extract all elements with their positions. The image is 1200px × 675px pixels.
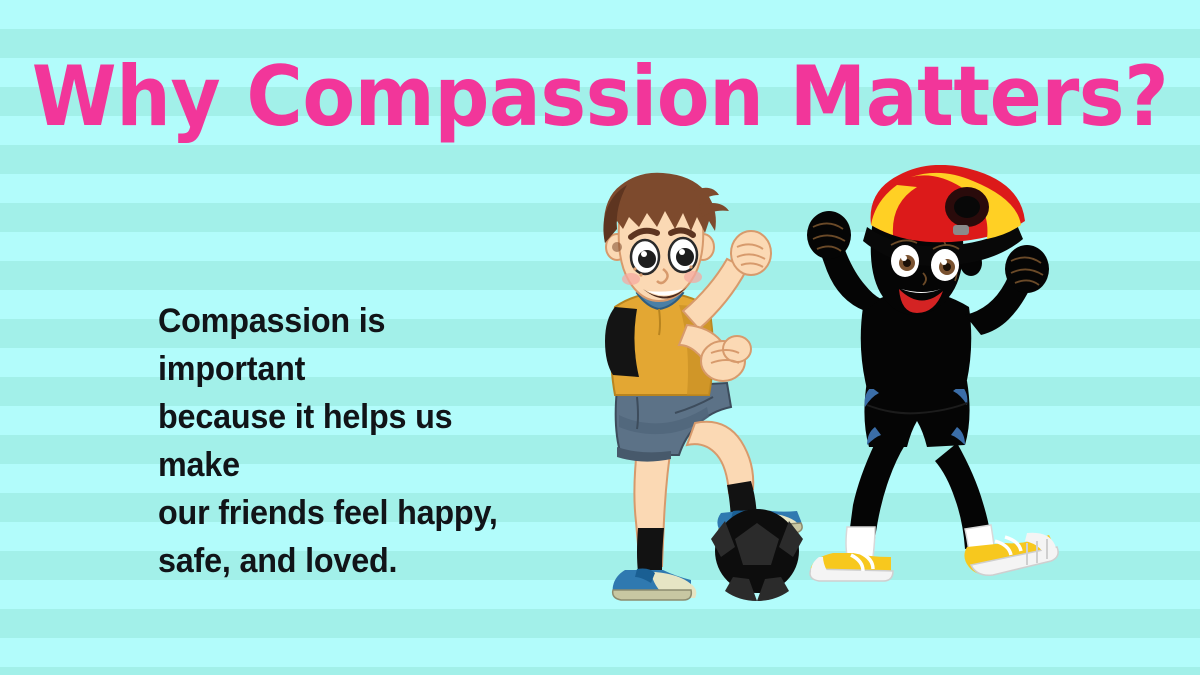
page-title: Why Compassion Matters? [0,52,1200,142]
body-line: Compassion is important [158,297,538,393]
boy-fist [731,231,771,275]
body-paragraph: Compassion is important because it helps… [158,297,538,585]
illustration-two-children [575,165,1095,615]
silhouette-shorts [864,381,969,447]
body-line: because it helps us make [158,393,538,489]
boy-head [603,173,729,301]
body-line: safe, and loved. [158,537,538,585]
body-line: our friends feel happy, [158,489,538,537]
silhouette-left-arm [807,211,881,311]
silhouette-legs [810,443,1058,581]
slide-canvas: Why Compassion Matters? Compassion is im… [0,0,1200,675]
boy-back-leg [613,440,697,600]
figure-cheering-child [807,165,1058,581]
figure-boy-with-ball [603,173,803,601]
soccer-ball [711,509,803,601]
